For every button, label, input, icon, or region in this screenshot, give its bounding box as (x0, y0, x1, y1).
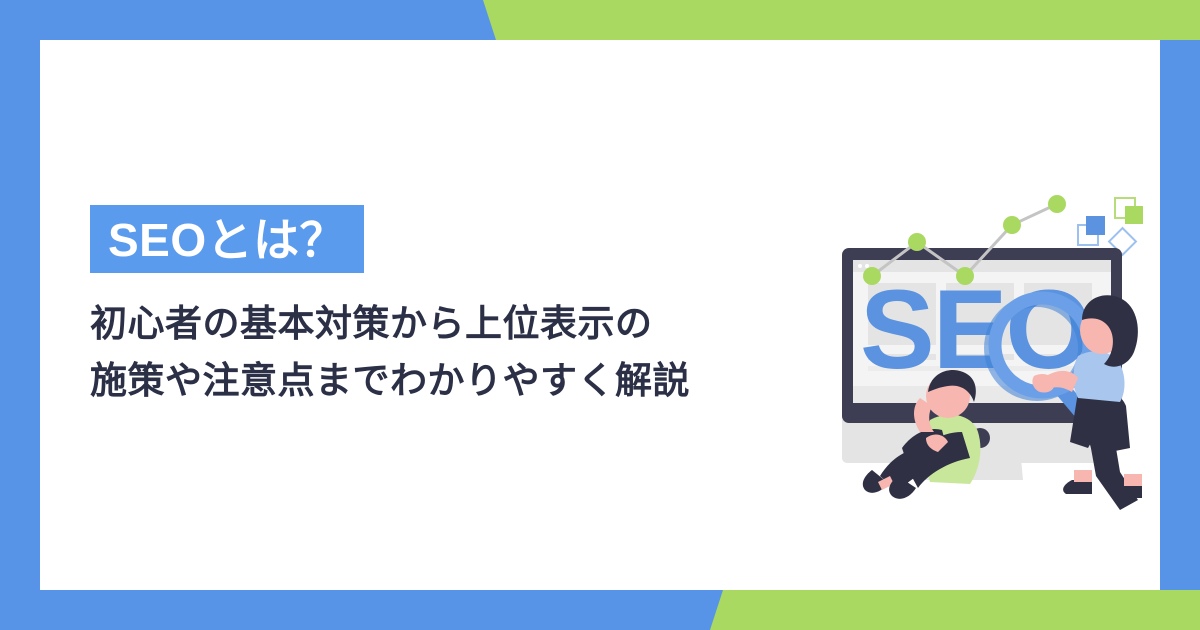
chart-point-4 (1048, 195, 1066, 213)
seo-monitor-illustration: SEO (820, 180, 1165, 525)
blue-square-filled-icon (1086, 216, 1105, 235)
text-column: SEOとは？ 初心者の基本対策から上位表示の 施策や注意点までわかりやすく解説 (90, 205, 750, 410)
chart-point-0 (863, 267, 881, 285)
green-square-filled-icon (1125, 206, 1143, 224)
chart-point-3 (1003, 216, 1021, 234)
decorative-squares (1078, 198, 1143, 255)
page-subtitle-line-1: 初心者の基本対策から上位表示の (90, 295, 750, 352)
chart-point-2 (956, 267, 974, 285)
chart-point-1 (908, 233, 926, 251)
ogp-canvas: SEOとは？ 初心者の基本対策から上位表示の 施策や注意点までわかりやすく解説 (0, 0, 1200, 630)
woman-ankle-right (1124, 474, 1142, 486)
page-subtitle: 初心者の基本対策から上位表示の 施策や注意点までわかりやすく解説 (90, 295, 750, 410)
page-subtitle-line-2: 施策や注意点までわかりやすく解説 (90, 352, 750, 409)
woman-shoe-left (1063, 480, 1092, 494)
content-card: SEOとは？ 初心者の基本対策から上位表示の 施策や注意点までわかりやすく解説 (40, 40, 1160, 590)
woman-ankle-left (1074, 470, 1092, 482)
page-title-badge: SEOとは？ (90, 205, 364, 273)
